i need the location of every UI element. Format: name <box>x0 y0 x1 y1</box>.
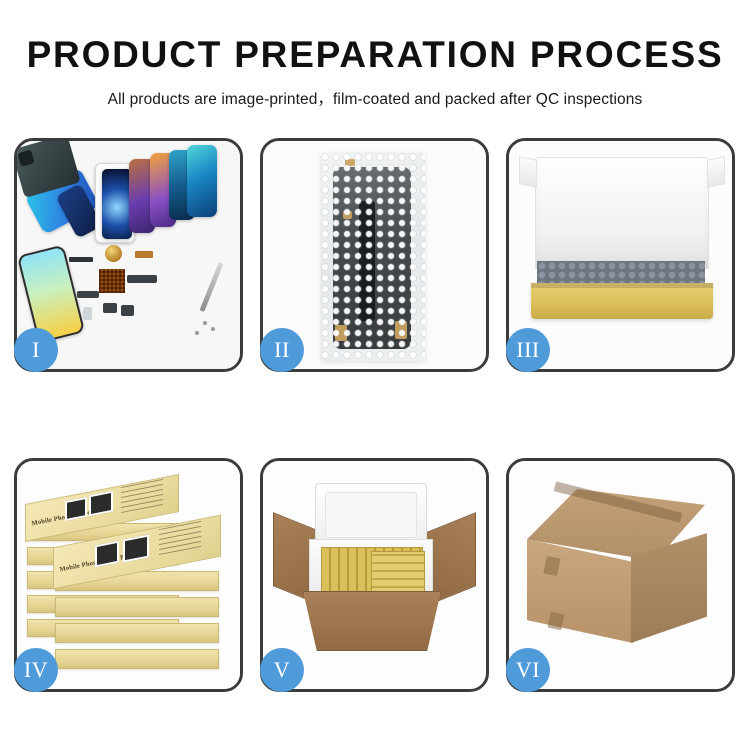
page-title: PRODUCT PREPARATION PROCESS <box>0 36 750 75</box>
stacked-box-f4 <box>55 649 219 669</box>
screw-part-2 <box>211 327 215 331</box>
vibrator-part <box>121 305 134 316</box>
small-part-strip <box>69 257 93 262</box>
carton-front-face <box>527 539 633 643</box>
carton-body-open <box>303 591 441 651</box>
battery-connector-part <box>83 307 92 320</box>
stacked-box-f2 <box>55 597 219 617</box>
phone-screen-cyan <box>187 145 217 217</box>
phone-screen-nebula <box>102 169 132 239</box>
packed-boxes-stack <box>371 551 425 595</box>
bubble-wrap-bag <box>321 153 425 361</box>
step-panel-6[interactable]: VI <box>506 458 735 692</box>
page-subtitle: All products are image-printed，film-coat… <box>0 87 750 109</box>
step-badge-6: VI <box>506 648 550 692</box>
step-badge-1: I <box>14 328 58 372</box>
flex-cable-right <box>127 275 157 283</box>
small-part-gold <box>135 251 153 258</box>
inner-box-lid-foam <box>535 157 709 269</box>
process-steps-grid: I II III <box>14 138 736 692</box>
step-panel-5[interactable]: V <box>260 458 489 692</box>
speaker-coil-part <box>105 245 122 262</box>
inner-box-yellow-base <box>531 283 713 319</box>
page-header: PRODUCT PREPARATION PROCESS All products… <box>0 0 750 109</box>
foam-lid <box>315 483 427 547</box>
box-window-back-1 <box>65 497 87 521</box>
stacked-box-f3 <box>55 623 219 643</box>
flex-cable-left <box>77 291 99 298</box>
step-badge-5: V <box>260 648 304 692</box>
step-panel-4[interactable]: Mobile Phone Spare Parts Mobile Phone Sp… <box>14 458 243 692</box>
camera-module-part <box>103 303 117 313</box>
step-badge-3: III <box>506 328 550 372</box>
screw-part-1 <box>203 321 207 325</box>
box-window-front-1 <box>95 541 119 568</box>
connector-grid-part <box>99 269 125 293</box>
screw-part-3 <box>195 331 199 335</box>
bubble-texture <box>321 153 425 361</box>
tweezers-tool <box>199 262 223 312</box>
step-panel-2[interactable]: II <box>260 138 489 372</box>
step-badge-4: IV <box>14 648 58 692</box>
step-panel-3[interactable]: III <box>506 138 735 372</box>
step-panel-1[interactable]: I <box>14 138 243 372</box>
step-badge-2: II <box>260 328 304 372</box>
